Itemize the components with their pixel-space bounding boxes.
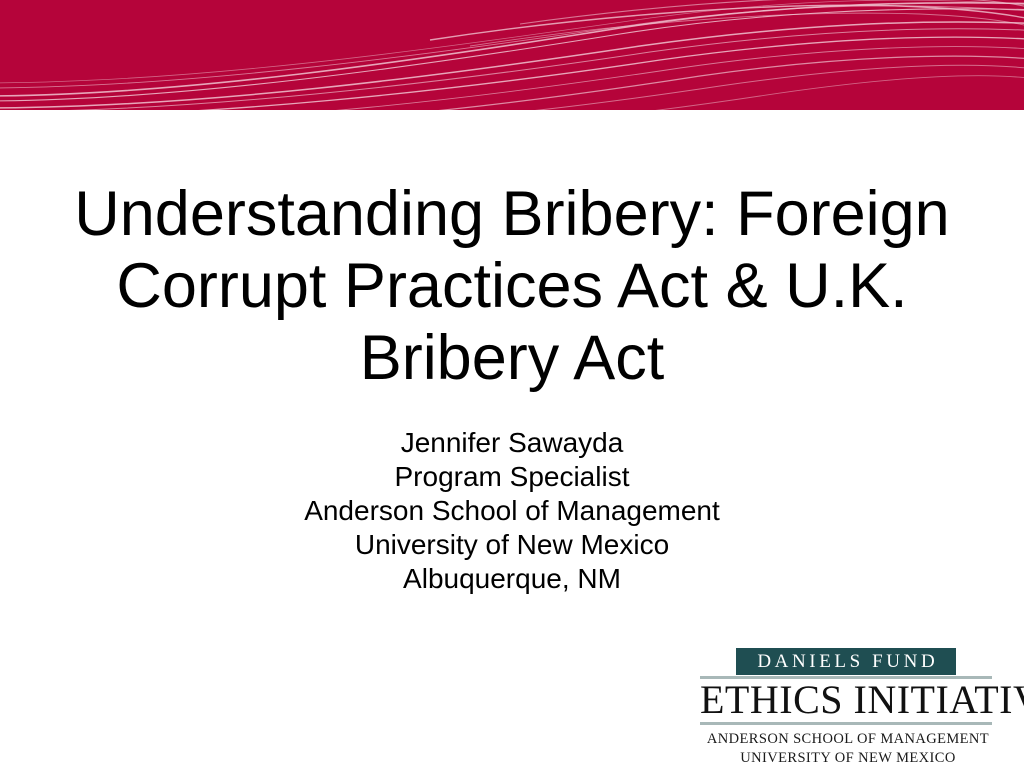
daniels-fund-ethics-initiative-logo: DANIELS FUND ETHICS INITIATIVE ANDERSON … <box>700 648 1000 768</box>
presenter-university: University of New Mexico <box>0 528 1024 562</box>
banner-wave-graphic <box>0 0 1024 110</box>
daniels-fund-bar: DANIELS FUND <box>736 648 956 675</box>
logo-university-line: UNIVERSITY OF NEW MEXICO <box>700 749 996 768</box>
title-line-1: Understanding Bribery: Foreign <box>0 178 1024 250</box>
logo-school-line: ANDERSON SCHOOL OF MANAGEMENT <box>700 730 996 749</box>
slide-subtitle: Jennifer Sawayda Program Specialist Ande… <box>0 426 1024 596</box>
title-line-3: Bribery Act <box>0 322 1024 394</box>
presenter-role: Program Specialist <box>0 460 1024 494</box>
daniels-fund-label: DANIELS FUND <box>754 652 939 671</box>
header-banner <box>0 0 1024 110</box>
presenter-name: Jennifer Sawayda <box>0 426 1024 460</box>
logo-affiliation: ANDERSON SCHOOL OF MANAGEMENT UNIVERSITY… <box>700 730 996 768</box>
slide-title: Understanding Bribery: Foreign Corrupt P… <box>0 178 1024 394</box>
presenter-school: Anderson School of Management <box>0 494 1024 528</box>
presenter-location: Albuquerque, NM <box>0 562 1024 596</box>
logo-rule-bottom <box>700 722 992 725</box>
title-line-2: Corrupt Practices Act & U.K. <box>0 250 1024 322</box>
ethics-initiative-label: ETHICS INITIATIVE <box>700 679 996 721</box>
slide-canvas: Understanding Bribery: Foreign Corrupt P… <box>0 0 1024 768</box>
